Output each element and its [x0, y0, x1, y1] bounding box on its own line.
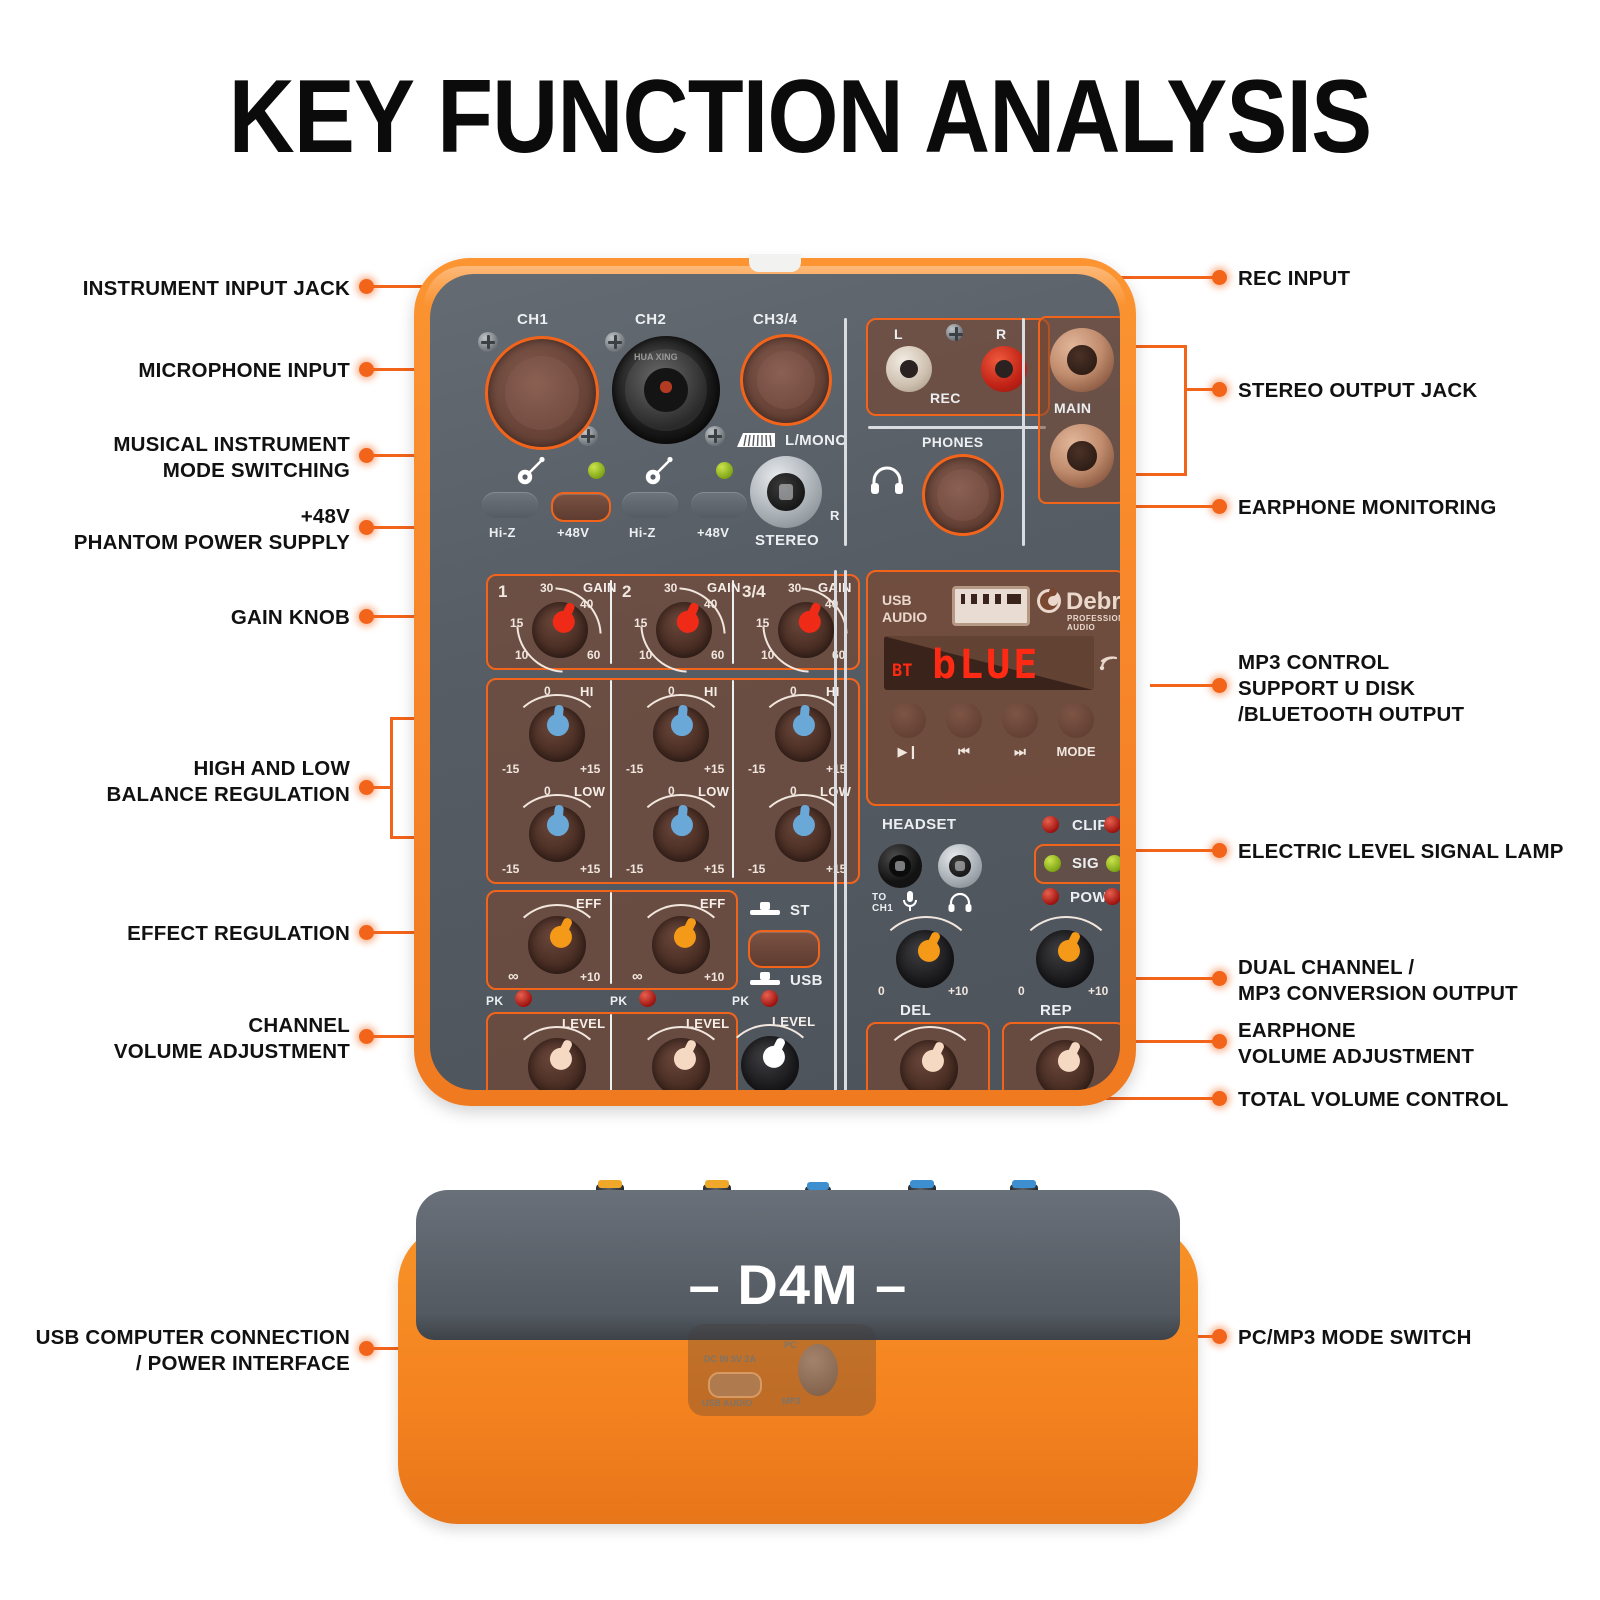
eq-low-max-2: +15	[704, 862, 724, 876]
clip-led-left	[1042, 816, 1059, 833]
effect-knob-ch1[interactable]	[528, 916, 586, 974]
eq-hi-max-1: +15	[580, 762, 600, 776]
knob-tip	[910, 1180, 934, 1188]
pk-led-34	[761, 990, 778, 1007]
sig-led-right	[1106, 855, 1120, 872]
eq-hi-knob-ch34[interactable]	[775, 706, 831, 762]
effect-knob-ch2[interactable]	[652, 916, 710, 974]
divider-right-of-phones	[1022, 318, 1025, 546]
screw-ch1-top	[478, 332, 498, 352]
device-port-recess: DC IN 5V 2A USB AUDIO PC MP3	[688, 1324, 876, 1416]
callout-dual-channel-mp3: DUAL CHANNEL / MP3 CONVERSION OUTPUT	[1238, 955, 1588, 1007]
headset-phone-jack[interactable]	[938, 844, 982, 888]
mp3-display-screen: BT bLUE	[884, 636, 1094, 690]
microphone-icon	[902, 890, 918, 912]
hiz-led-ch2	[716, 462, 733, 479]
sig-label: SIG	[1072, 855, 1099, 872]
phones-volume-block[interactable]: ∞ +10	[1002, 1022, 1120, 1090]
usb-audio-label: USB AUDIO	[882, 592, 927, 626]
callout-mp3-control: MP3 CONTROL SUPPORT U DISK /BLUETOOTH OU…	[1238, 650, 1588, 728]
rec-r-label: R	[996, 326, 1007, 342]
eq-hi-knob-ch2[interactable]	[653, 706, 709, 762]
ch1-label: CH1	[517, 311, 548, 328]
mp3-play-pause-button[interactable]	[890, 702, 926, 738]
pow-label: POW	[1070, 889, 1107, 906]
eq-low-min-2: -15	[626, 862, 643, 876]
usb-pin	[989, 594, 995, 604]
channel-level-block[interactable]: LEVEL ∞ +10 LEVEL ∞ +10	[486, 1012, 738, 1090]
callout-pc-mp3-mode-switch: PC/MP3 MODE SWITCH	[1238, 1325, 1588, 1351]
headset-mic-hole	[889, 855, 912, 878]
pk-led-1	[515, 990, 532, 1007]
usb-label: USB	[790, 972, 823, 989]
eff-divider	[610, 892, 612, 984]
gain-knob-ch2[interactable]	[656, 602, 712, 658]
phantom-label-ch2: +48V	[697, 525, 729, 540]
divider-under-rec	[868, 426, 1046, 429]
mp3-next-button[interactable]	[1002, 702, 1038, 738]
ch2-label: CH2	[635, 311, 666, 328]
level-min-34: ∞	[721, 1088, 732, 1090]
microphone-input-jack-ch1[interactable]	[485, 336, 599, 450]
rep-label: REP	[1040, 1002, 1072, 1019]
phantom-power-button-ch2[interactable]	[691, 492, 747, 518]
hiz-button-ch2[interactable]	[622, 492, 678, 518]
eq-hi-min-1: -15	[502, 762, 519, 776]
del-max: +10	[948, 984, 968, 998]
eq-hi-knob-ch1[interactable]	[529, 706, 585, 762]
knob-tip	[807, 1182, 829, 1190]
stereo-jack-center	[767, 473, 804, 510]
eq-low-min-34: -15	[748, 862, 765, 876]
main-output-jack-r[interactable]	[1050, 424, 1114, 488]
rec-l-label: L	[894, 326, 903, 342]
rec-label: REC	[930, 390, 961, 406]
usb-pin	[965, 594, 971, 604]
gain-ch-num-1: 1	[498, 582, 507, 602]
eff-min-2: ∞	[632, 968, 643, 985]
pk-label-1: PK	[486, 994, 503, 1008]
phones-output-jack[interactable]	[922, 454, 1004, 536]
main-output-jack-l[interactable]	[1050, 328, 1114, 392]
callout-earphone-monitoring: EARPHONE MONITORING	[1238, 495, 1588, 521]
gain-divider-1	[610, 580, 612, 664]
callout-instrument-input-jack: INSTRUMENT INPUT JACK	[40, 276, 350, 302]
mp3-play-pause-label: ▶❙	[880, 744, 936, 760]
main-volume-knob[interactable]	[900, 1040, 958, 1090]
eq-divider-2	[732, 680, 734, 878]
level-divider	[610, 1014, 612, 1090]
mp3-next-label: ⏭	[992, 744, 1048, 760]
stereo-r-label: R	[830, 508, 840, 523]
stereo-trs-jack[interactable]	[750, 456, 822, 528]
headphone-icon	[870, 466, 904, 494]
eff-min-1: ∞	[508, 968, 519, 985]
pow-led-right	[1104, 888, 1120, 905]
gain-label-2: GAIN	[707, 580, 741, 595]
xlr-brand-label: HUA XING	[634, 352, 678, 362]
callout-gain-knob: GAIN KNOB	[60, 605, 350, 631]
phones-jack-inner	[937, 469, 989, 521]
xlr-pin	[660, 381, 671, 392]
eq-divider-1	[610, 680, 612, 878]
hiz-label-ch1: Hi-Z	[489, 525, 516, 540]
callout-total-volume-control: TOTAL VOLUME CONTROL	[1238, 1087, 1588, 1113]
mixer-front-view: – D4M – DC IN 5V 2A USB AUDIO PC MP3	[398, 1176, 1198, 1536]
usb-pin	[1001, 594, 1007, 604]
mp3-mode-button[interactable]	[1058, 702, 1094, 738]
rec-rca-right-hole	[995, 360, 1013, 378]
eq-block[interactable]: 0 HI -15 +15 0 HI -15 +15 0 HI	[486, 678, 860, 884]
eq-hi-min-34: -15	[748, 762, 765, 776]
callout-musical-instrument-mode: MUSICAL INSTRUMENT MODE SWITCHING	[40, 432, 350, 484]
leader-hilow	[366, 786, 393, 789]
brand-subtitle: PROFESSIONAL AUDIO	[1067, 614, 1120, 632]
knob-tip	[598, 1180, 622, 1188]
knob-tip	[705, 1180, 729, 1188]
delay-knob[interactable]	[896, 930, 954, 988]
eq-low-label-2: LOW	[698, 784, 729, 799]
mp3-previous-label: ⏮	[936, 744, 992, 760]
stereo-label: STEREO	[755, 532, 819, 549]
lmono-label: L/MONO	[785, 432, 847, 449]
eq-hi-label-1: HI	[580, 684, 594, 699]
eff-max-2: +10	[704, 970, 724, 984]
mixer-faceplate: CH1 CH2 CH3/4 HUA XING L/MON	[430, 274, 1120, 1090]
hiz-label-ch2: Hi-Z	[629, 525, 656, 540]
main-jack-r-hole	[1067, 441, 1096, 470]
effect-block[interactable]: EFF ∞ +10 EFF ∞ +10	[486, 890, 738, 990]
sig-lamp-block: SIG	[1034, 844, 1120, 884]
divider-right-column-2	[844, 570, 847, 1090]
st-label: ST	[790, 902, 810, 919]
debra-logo-icon	[1036, 588, 1062, 614]
clip-label: CLIP	[1072, 817, 1108, 834]
hiz-led-ch1	[588, 462, 605, 479]
eff-max-1: +10	[580, 970, 600, 984]
device-model-name: – D4M –	[416, 1252, 1180, 1317]
eq-low-knob-ch2[interactable]	[653, 806, 709, 862]
xlr-input-jack-ch2[interactable]: HUA XING	[612, 336, 720, 444]
mp3-mode-text: MP3	[782, 1396, 801, 1406]
eq-low-max-1: +15	[580, 862, 600, 876]
pk-led-2	[639, 990, 656, 1007]
mp3-previous-button[interactable]	[946, 702, 982, 738]
wifi-bluetooth-signal-icon	[1098, 646, 1120, 672]
callout-electric-level-signal-lamp: ELECTRIC LEVEL SIGNAL LAMP	[1238, 839, 1598, 865]
keyboard-icon	[735, 431, 777, 449]
eq-hi-max-2: +15	[704, 762, 724, 776]
headset-phone-hole	[949, 855, 972, 878]
leader-hilow-brace	[390, 717, 393, 839]
rep-max: +10	[1088, 984, 1108, 998]
knob-tip	[1012, 1180, 1036, 1188]
to-ch1-text: TO CH1	[872, 892, 893, 914]
gain-divider-2	[732, 580, 734, 664]
hiz-button-ch1[interactable]	[482, 492, 538, 518]
rec-rca-left-hole	[900, 360, 918, 378]
sig-led-left	[1044, 855, 1061, 872]
switch-down-icon	[750, 972, 780, 988]
callout-microphone-input: MICROPHONE INPUT	[40, 358, 350, 384]
ch34-jack-inner	[757, 351, 816, 410]
dc-in-text: DC IN 5V 2A	[704, 1354, 756, 1364]
mp3-mode-label: MODE	[1048, 744, 1104, 759]
usb-power-port[interactable]	[708, 1372, 762, 1398]
display-text: bLUE	[932, 642, 1040, 688]
headphone-small-icon	[948, 892, 972, 912]
mixer-top-nub	[749, 254, 801, 272]
phones-label: PHONES	[922, 434, 984, 450]
leader-mp3	[1150, 684, 1216, 687]
to-ch1-label: TO CH1	[872, 892, 893, 914]
usb-port-slot	[961, 594, 1021, 604]
screw-ch2-bottom	[705, 426, 725, 446]
callout-rec-input: REC INPUT	[1238, 266, 1568, 292]
pk-label-2: PK	[610, 994, 627, 1008]
callout-effect-regulation: EFFECT REGULATION	[40, 921, 350, 947]
callout-stereo-output-jack: STEREO OUTPUT JACK	[1238, 378, 1578, 404]
gain-knob-ch1[interactable]	[532, 602, 588, 658]
main-label: MAIN	[1054, 400, 1091, 416]
guitar-icon-ch1	[515, 456, 545, 486]
gain-knob-block[interactable]: 1 30 GAIN 40 15 10 60 2 30 GAIN 40 15 10…	[486, 574, 860, 670]
phones-volume-knob[interactable]	[1036, 1040, 1094, 1090]
pc-mode-text: PC	[784, 1340, 797, 1350]
mp3-control-panel[interactable]: USB AUDIO Debra PROFESSIONAL AUDIO BT bL…	[866, 570, 1120, 806]
phantom-power-button-ch1[interactable]	[551, 492, 611, 522]
usb-audio-text: USB AUDIO	[882, 592, 927, 625]
divider-left-of-rec	[844, 318, 847, 546]
eq-hi-label-34: HI	[826, 684, 840, 699]
ch1-jack-inner	[505, 356, 578, 429]
instrument-input-jack-ch34[interactable]	[740, 334, 832, 426]
ch34-label: CH3/4	[753, 311, 798, 328]
gain-ch-num-34: 3/4	[742, 582, 766, 602]
headset-mic-jack[interactable]	[878, 844, 922, 888]
main-jack-l-hole	[1067, 345, 1096, 374]
channel-level-knob-ch34[interactable]	[741, 1036, 799, 1090]
phantom-label-ch1: +48V	[557, 525, 589, 540]
callout-high-low-balance: HIGH AND LOW BALANCE REGULATION	[40, 756, 350, 808]
pc-mp3-mode-switch-button[interactable]	[798, 1344, 838, 1396]
usb-pin	[977, 594, 983, 604]
clip-led-right	[1104, 816, 1120, 833]
usb-audio-port-text: USB AUDIO	[702, 1398, 752, 1408]
eq-low-min-1: -15	[502, 862, 519, 876]
device-top-shell: – D4M –	[416, 1190, 1180, 1340]
eq-low-label-1: LOW	[574, 784, 605, 799]
channel-level-knob-ch2[interactable]	[652, 1038, 710, 1090]
leader-stereo	[1186, 388, 1216, 391]
gain-knob-ch34[interactable]	[778, 602, 834, 658]
eq-low-knob-ch34[interactable]	[775, 806, 831, 862]
rep-min: 0	[1018, 984, 1025, 998]
eq-hi-label-2: HI	[704, 684, 718, 699]
callout-phantom-power: +48V PHANTOM POWER SUPPLY	[30, 504, 350, 556]
callout-earphone-volume: EARPHONE VOLUME ADJUSTMENT	[1238, 1018, 1588, 1070]
gain-ch-num-2: 2	[622, 582, 631, 602]
callout-usb-computer-connection: USB COMPUTER CONNECTION / POWER INTERFAC…	[20, 1325, 350, 1377]
eq-low-knob-ch1[interactable]	[529, 806, 585, 862]
usb-port[interactable]	[952, 586, 1030, 626]
eq-hi-min-2: -15	[626, 762, 643, 776]
rec-rca-left[interactable]	[886, 346, 932, 392]
del-min: 0	[878, 984, 885, 998]
main-volume-block[interactable]: ∞ +10	[866, 1022, 990, 1090]
channel-level-knob-ch1[interactable]	[528, 1038, 586, 1090]
xlr-hole	[644, 368, 687, 411]
repeat-knob[interactable]	[1036, 930, 1094, 988]
switch-up-icon	[750, 902, 780, 918]
mixer-top-view: CH1 CH2 CH3/4 HUA XING L/MON	[414, 258, 1136, 1106]
callout-channel-volume: CHANNEL VOLUME ADJUSTMENT	[40, 1013, 350, 1065]
page-title: KEY FUNCTION ANALYSIS	[96, 58, 1504, 177]
main-output-block[interactable]: MAIN	[1038, 316, 1120, 504]
brand-name: Debra	[1066, 588, 1120, 616]
divider-right-column	[834, 570, 837, 1090]
pow-led-left	[1042, 888, 1059, 905]
headset-label: HEADSET	[882, 816, 956, 833]
st-usb-switch-button[interactable]	[748, 930, 820, 968]
display-bt-indicator: BT	[892, 661, 912, 681]
del-label: DEL	[900, 1002, 931, 1019]
rec-rca-right[interactable]	[981, 346, 1027, 392]
leader-stereo-brace	[1184, 345, 1187, 476]
guitar-icon-ch2	[643, 456, 673, 486]
screw-rec	[946, 324, 963, 341]
screw-ch2-top	[605, 332, 625, 352]
pk-label-34: PK	[732, 994, 749, 1008]
